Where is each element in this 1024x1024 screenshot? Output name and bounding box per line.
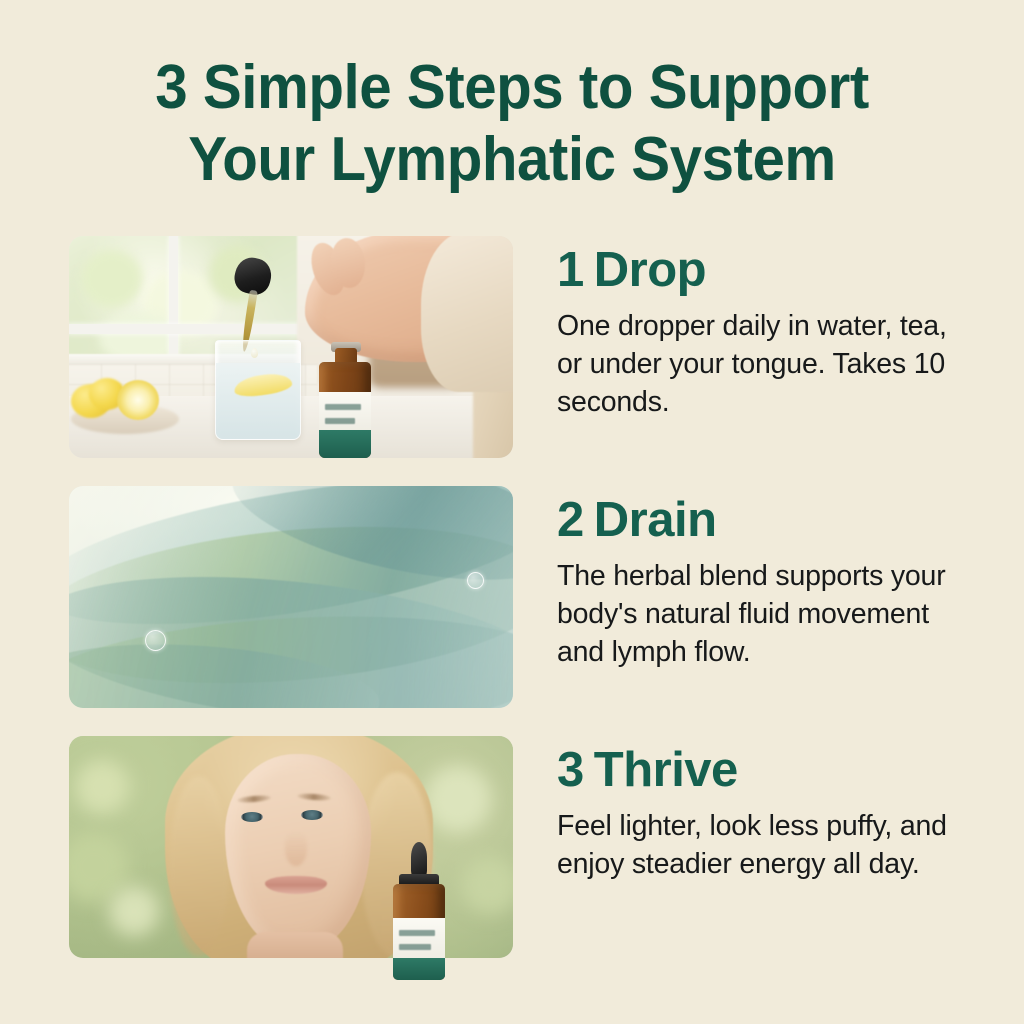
sweater-sleeve [421, 236, 513, 392]
step-1-body: One dropper daily in water, tea, or unde… [557, 307, 977, 421]
eye [301, 810, 323, 820]
bottle-label-text [399, 930, 435, 936]
steps-list: 1Drop One dropper daily in water, tea, o… [0, 236, 1024, 958]
page-title: 3 Simple Steps to Support Your Lymphatic… [0, 52, 1024, 196]
bokeh-light [425, 766, 491, 832]
glass-of-water [215, 340, 301, 440]
bottle-label-text [325, 418, 355, 424]
step-3-number: 3 [557, 742, 584, 798]
window-rail [69, 324, 307, 334]
kitchen-dropper-photo [69, 236, 513, 458]
step-3-text: 3Thrive Feel lighter, look less puffy, a… [557, 736, 977, 883]
bottle-label-text [399, 944, 431, 950]
step-3-heading: 3Thrive [557, 742, 977, 798]
bottle-label-text [325, 404, 361, 410]
supplement-bottle [393, 884, 445, 980]
neck [247, 932, 343, 958]
step-3-image [69, 736, 513, 958]
bokeh-light [461, 856, 513, 914]
step-item-2: 2Drain The herbal blend supports your bo… [0, 486, 1024, 708]
step-2-text: 2Drain The herbal blend supports your bo… [557, 486, 977, 671]
hair-strand [169, 776, 229, 956]
step-2-image [69, 486, 513, 708]
supplement-bottle-foreground [387, 840, 449, 980]
bubble-icon [467, 572, 484, 589]
bubble-icon [145, 630, 166, 651]
bokeh-light [109, 886, 159, 936]
foliage-bokeh [81, 250, 143, 308]
step-item-1: 1Drop One dropper daily in water, tea, o… [0, 236, 1024, 458]
water [216, 363, 300, 439]
window-mullion [169, 236, 178, 360]
supplement-bottle [319, 362, 371, 458]
step-2-heading: 2Drain [557, 492, 977, 548]
eye [241, 812, 263, 822]
step-1-title: Drop [594, 243, 706, 297]
infographic-page: 3 Simple Steps to Support Your Lymphatic… [0, 0, 1024, 1024]
step-3-body: Feel lighter, look less puffy, and enjoy… [557, 807, 977, 883]
bottle-label-band [393, 958, 445, 980]
step-1-image [69, 236, 513, 458]
bottle-label-band [319, 430, 371, 458]
page-title-line-2: Your Lymphatic System [31, 124, 994, 196]
step-2-title: Drain [594, 493, 717, 547]
bokeh-light [75, 760, 129, 814]
page-title-line-1: 3 Simple Steps to Support [31, 52, 994, 124]
step-item-3: 3Thrive Feel lighter, look less puffy, a… [0, 736, 1024, 958]
dropper-bulb-icon [411, 842, 427, 878]
step-1-text: 1Drop One dropper daily in water, tea, o… [557, 236, 977, 421]
lemon-half-icon [117, 380, 159, 420]
step-2-number: 2 [557, 492, 584, 548]
step-1-number: 1 [557, 242, 584, 298]
bottle-label [319, 392, 371, 430]
step-2-body: The herbal blend supports your body's na… [557, 557, 977, 671]
bottle-label [393, 918, 445, 958]
abstract-water-graphic [69, 486, 513, 708]
step-1-heading: 1Drop [557, 242, 977, 298]
step-3-title: Thrive [594, 743, 738, 797]
nose [285, 832, 307, 866]
